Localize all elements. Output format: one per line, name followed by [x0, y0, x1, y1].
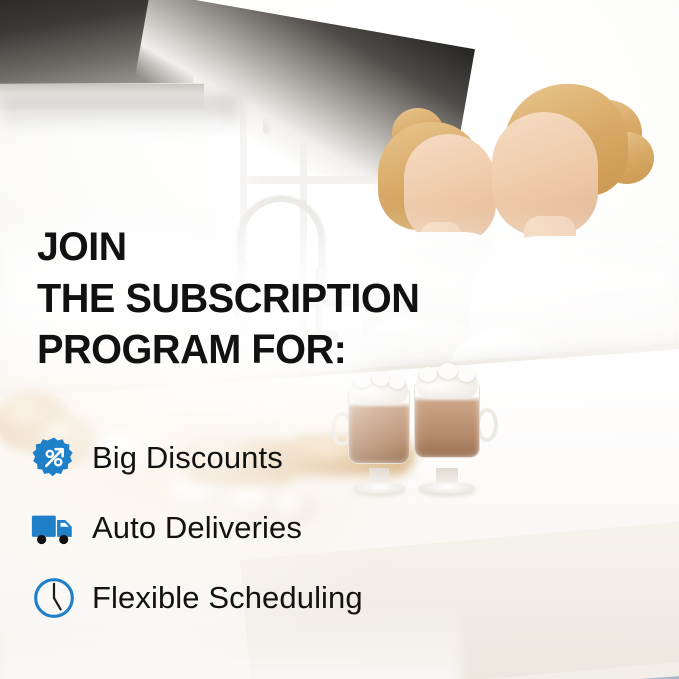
feature-list: Big Discounts Auto Deliveries	[30, 428, 490, 638]
delivery-truck-icon	[30, 504, 78, 552]
text-overlay: JOIN THE SUBSCRIPTION PROGRAM FOR: Big D…	[0, 0, 679, 679]
feature-item-scheduling: Flexible Scheduling	[30, 568, 490, 628]
headline-line-2: THE SUBSCRIPTION	[37, 273, 498, 324]
discount-badge-icon	[30, 434, 78, 482]
headline: JOIN THE SUBSCRIPTION PROGRAM FOR:	[37, 222, 507, 375]
feature-item-deliveries: Auto Deliveries	[30, 498, 490, 558]
headline-line-1: JOIN	[37, 222, 498, 273]
feature-label-deliveries: Auto Deliveries	[92, 510, 302, 546]
feature-label-discounts: Big Discounts	[92, 440, 283, 476]
headline-line-3: PROGRAM FOR:	[37, 324, 498, 375]
feature-item-discounts: Big Discounts	[30, 428, 490, 488]
promo-banner: JOIN THE SUBSCRIPTION PROGRAM FOR: Big D…	[0, 0, 679, 679]
feature-label-scheduling: Flexible Scheduling	[92, 580, 363, 616]
clock-icon	[30, 574, 78, 622]
